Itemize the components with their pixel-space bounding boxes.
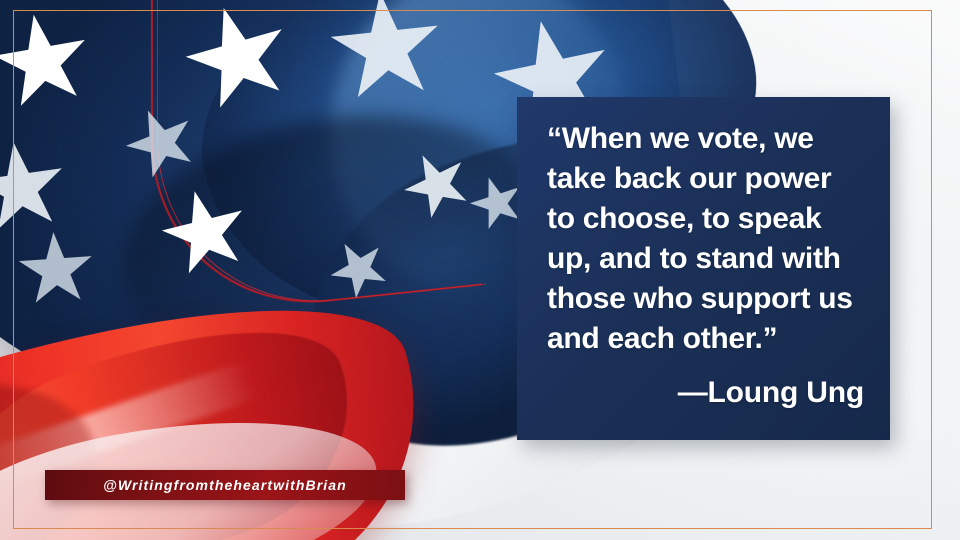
quote-text: “When we vote, we take back our power to…: [547, 119, 864, 359]
handle-text: @WritingfromtheheartwithBrian: [103, 477, 347, 493]
quote-attribution: —Loung Ung: [547, 373, 864, 413]
handle-banner: @WritingfromtheheartwithBrian: [45, 470, 405, 500]
quote-card: “When we vote, we take back our power to…: [517, 97, 890, 440]
slide-canvas: “When we vote, we take back our power to…: [0, 0, 960, 540]
